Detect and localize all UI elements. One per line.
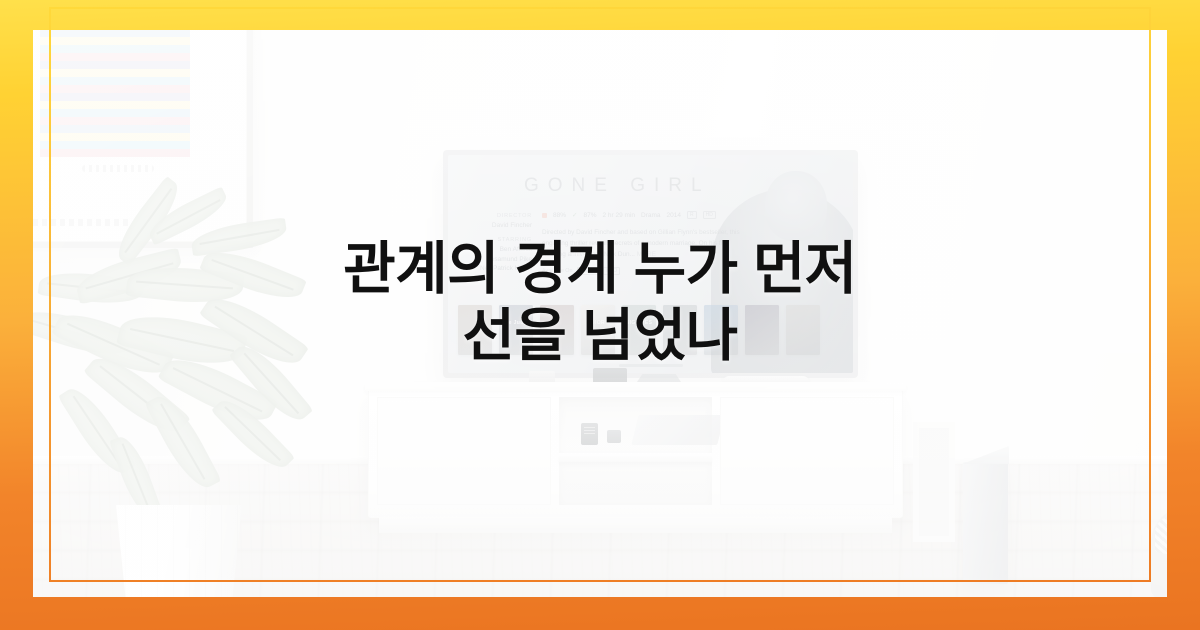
media-console [368,388,903,518]
tower-speaker [963,462,1008,584]
wall-art-stripe-6 [40,45,190,53]
wall-art-stripe-4 [40,30,190,37]
tv-rating-chip: R [687,211,697,219]
console-cabinet-left[interactable] [377,397,551,505]
tv-quality-chip: HD [703,211,716,219]
tv-tomato-score: 88% [553,212,566,219]
wall-art-stripe-19 [40,149,190,157]
tv-metadata-row: 88% ✓ 87% 2 hr 29 min Drama 2014 R HD [542,211,716,219]
wall-art-stripe-9 [40,69,190,77]
tv-genre: Drama [641,212,661,219]
tv-director-label: DIRECTOR [460,213,532,219]
console-cabinet-right[interactable] [720,397,894,505]
page-title: 관계의 경계 누가 먼저 선을 넘었나 [0,236,1200,369]
console-open-bay [559,397,712,505]
wall-art-stripe-8 [40,61,190,69]
console-plinth [379,517,892,533]
wall-art-stripe-15 [40,117,190,125]
wall-art-signature [82,165,154,172]
wall-art-stripe-16 [40,125,190,133]
wall-art-stripe-17 [40,133,190,141]
tv-person-head [765,171,827,241]
wall-art-stripe-18 [40,141,190,149]
shelf-small-box [607,430,621,443]
plant-pot [109,505,249,597]
wall-art-stripes [40,30,190,157]
audience-check-icon: ✓ [572,211,577,219]
tv-year: 2014 [667,212,681,219]
tv-movie-title: GONE GIRL [524,175,711,197]
wall-art-stripe-10 [40,77,190,85]
wall-art-stripe-13 [40,101,190,109]
wall-art-stripe-14 [40,109,190,117]
tv-audience-score: 87% [583,212,596,219]
console-top-surface [365,382,906,391]
tv-runtime: 2 hr 29 min [602,212,635,219]
tomato-icon [542,213,547,218]
shelf-laptop [631,415,724,445]
wall-art-stripe-7 [40,53,190,61]
right-wall-frame [913,422,955,542]
remote-control[interactable] [581,423,598,445]
poster-canvas: GONE GIRL DIRECTOR David Fincher STARRIN… [0,0,1200,630]
wall-art-stripe-11 [40,85,190,93]
console-shelf [559,453,712,462]
wall-art-stripe-5 [40,37,190,45]
wall-art-stripe-12 [40,93,190,101]
tv-director-value: David Fincher [460,221,532,230]
